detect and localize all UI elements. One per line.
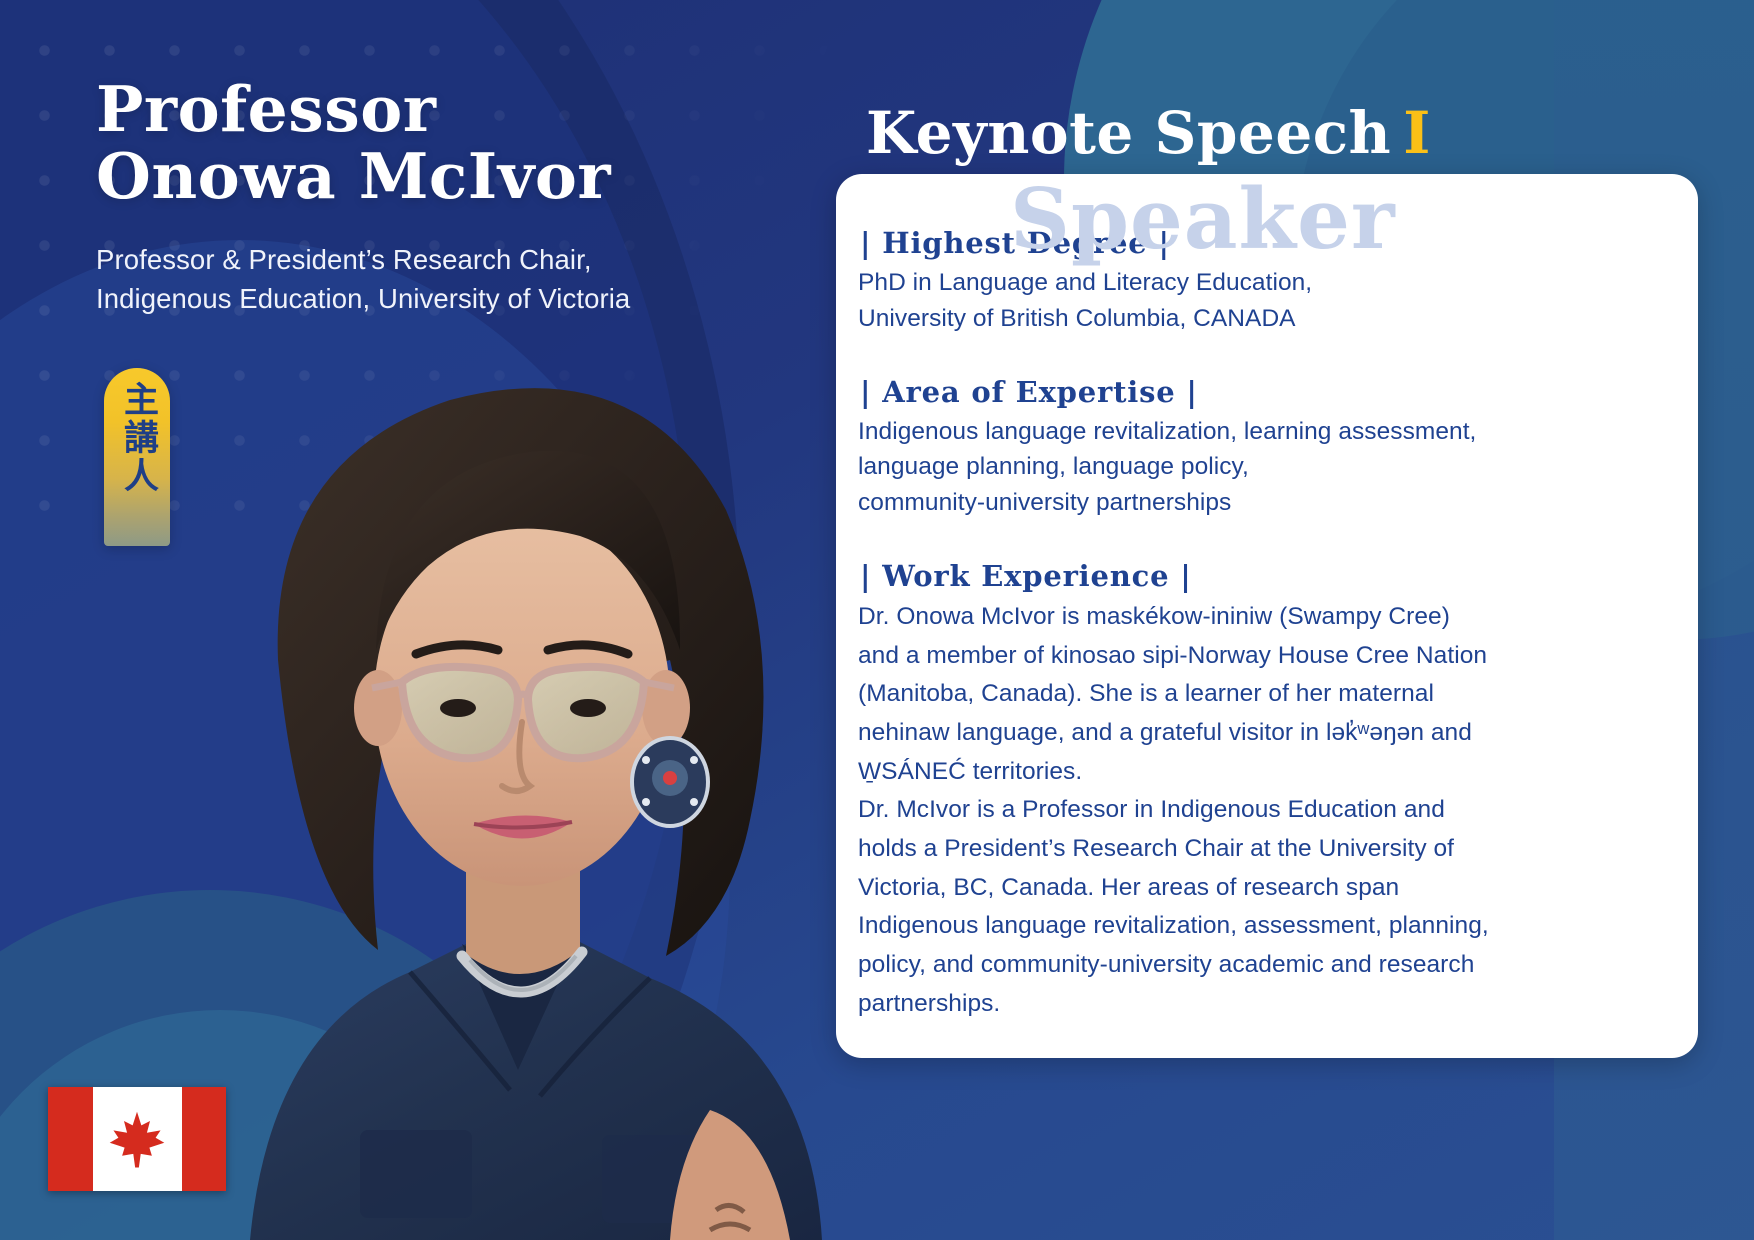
flag-right-band [182, 1087, 227, 1191]
keynote-speech-number: I [1403, 99, 1431, 167]
section-body-work-experience: Dr. Onowa McIvor is maskékow-ininiw (Swa… [858, 598, 1674, 1024]
maple-leaf-icon [106, 1108, 168, 1170]
speaker-portrait [110, 230, 920, 1240]
section-work-experience: | Work Experience | Dr. Onowa McIvor is … [858, 559, 1674, 1024]
flag-center-band [93, 1087, 182, 1191]
flag-left-band [48, 1087, 93, 1191]
section-body-highest-degree: PhD in Language and Literacy Education, … [858, 265, 1674, 337]
speaker-info-content: | Highest Degree | PhD in Language and L… [858, 226, 1674, 1048]
section-heading-work-experience: | Work Experience | [858, 559, 1674, 593]
section-spacer-2 [858, 525, 1674, 559]
keynote-speech-title: Keynote SpeechI [866, 104, 1431, 162]
speaker-watermark: Speaker [1010, 178, 1396, 261]
speaker-info-card: | Highest Degree | PhD in Language and L… [836, 174, 1698, 1058]
speaker-name: Professor Onowa McIvor [96, 76, 856, 211]
section-body-area-of-expertise: Indigenous language revitalization, lear… [858, 414, 1674, 521]
section-spacer-1 [858, 341, 1674, 375]
section-area-of-expertise: | Area of Expertise | Indigenous languag… [858, 375, 1674, 521]
keynote-speech-label: Keynote Speech [866, 99, 1391, 167]
canada-flag [48, 1087, 226, 1191]
speaker-poster: Professor Onowa McIvor Professor & Presi… [0, 0, 1754, 1240]
section-heading-area-of-expertise: | Area of Expertise | [858, 375, 1674, 409]
